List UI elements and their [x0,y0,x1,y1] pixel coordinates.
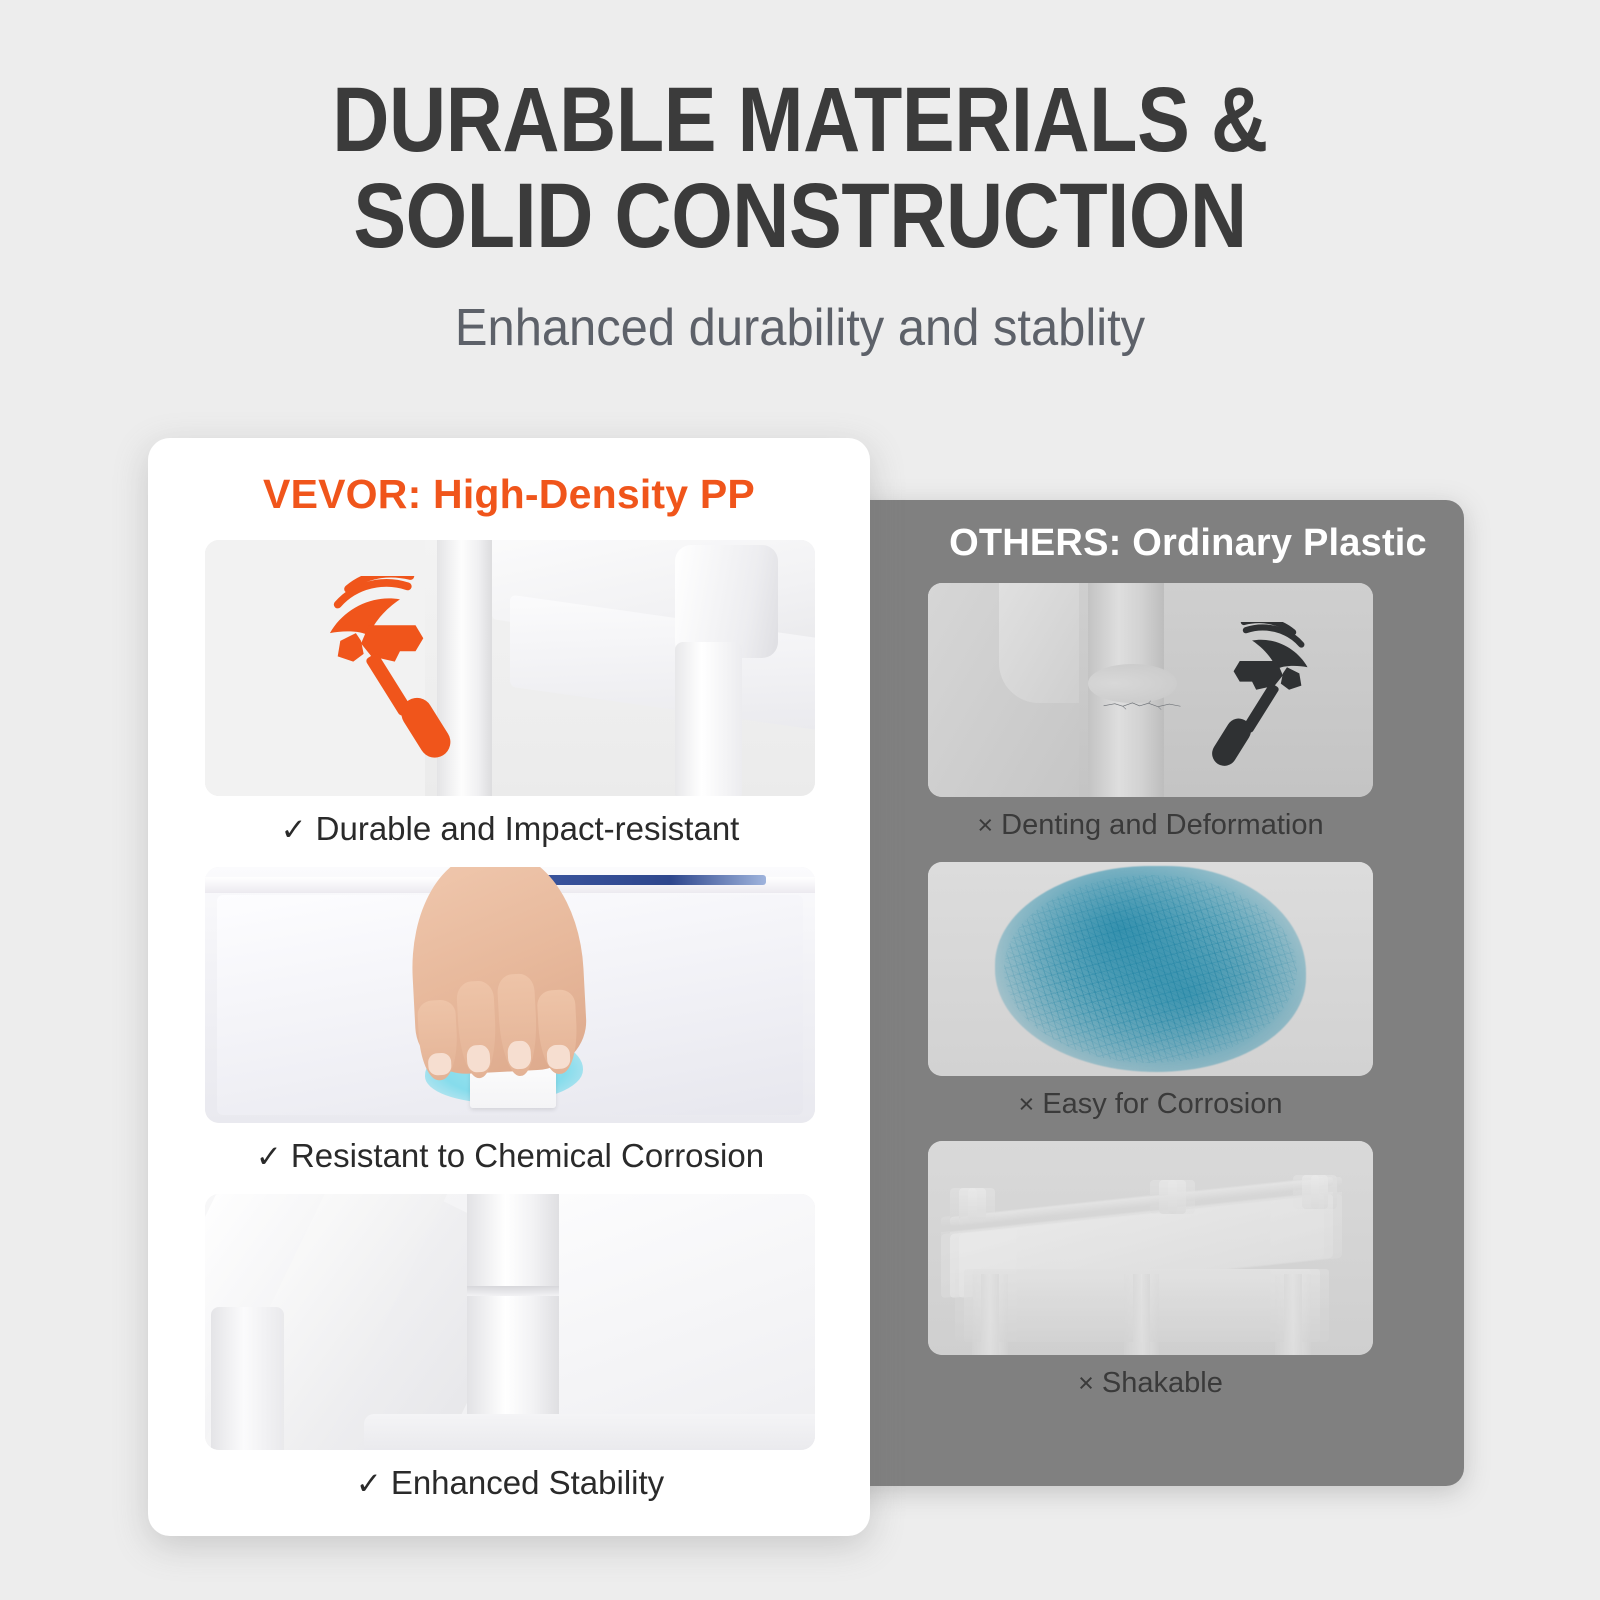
others-image-shakable [928,1141,1373,1355]
caption-text: Resistant to Chemical Corrosion [291,1137,764,1174]
vevor-comparison-panel: VEVOR: High-Density PP [148,438,870,1536]
list-item: ×Shakable [925,1141,1445,1408]
hand-graphic [407,867,589,1076]
vevor-caption: ✓Resistant to Chemical Corrosion [205,1123,815,1185]
check-icon: ✓ [256,1139,282,1174]
others-panel-title: OTHERS: Ordinary Plastic [928,522,1448,565]
vevor-image-impact [205,540,815,796]
caption-text: Denting and Deformation [1001,809,1323,841]
vevor-feature-list: ✓Durable and Impact-resistant [148,540,870,1512]
vevor-image-stability [205,1194,815,1450]
others-caption: ×Easy for Corrosion [925,1076,1376,1129]
list-item: ✓Resistant to Chemical Corrosion [205,867,870,1185]
vevor-caption: ✓Durable and Impact-resistant [205,796,815,858]
others-feature-list: ×Denting and Deformation ×Easy for Corro… [925,583,1445,1420]
others-caption: ×Denting and Deformation [925,797,1376,850]
others-image-corrosion [928,862,1373,1076]
list-item: ×Easy for Corrosion [925,862,1445,1129]
hammer-icon [272,576,492,771]
cross-icon: × [977,810,993,840]
caption-text: Shakable [1102,1367,1223,1399]
list-item: ×Denting and Deformation [925,583,1445,850]
others-caption: ×Shakable [925,1355,1376,1408]
vevor-image-corrosion-resistance [205,867,815,1123]
others-image-denting [928,583,1373,797]
caption-text: Durable and Impact-resistant [316,810,740,847]
cross-icon: × [1019,1089,1035,1119]
page-title: DURABLE MATERIALS & SOLID CONSTRUCTION [267,72,1333,264]
caption-text: Easy for Corrosion [1042,1088,1282,1120]
caption-text: Enhanced Stability [391,1464,664,1501]
cross-icon: × [1078,1368,1094,1398]
header: DURABLE MATERIALS & SOLID CONSTRUCTION E… [0,0,1600,358]
vevor-caption: ✓Enhanced Stability [205,1450,815,1512]
list-item: ✓Enhanced Stability [205,1194,870,1512]
vevor-panel-title: VEVOR: High-Density PP [148,438,870,518]
list-item: ✓Durable and Impact-resistant [205,540,870,858]
hammer-icon [1173,622,1360,776]
crack-icon [1102,699,1182,712]
page-subtitle: Enhanced durability and stablity [48,298,1552,358]
check-icon: ✓ [281,812,307,847]
check-icon: ✓ [356,1466,382,1501]
